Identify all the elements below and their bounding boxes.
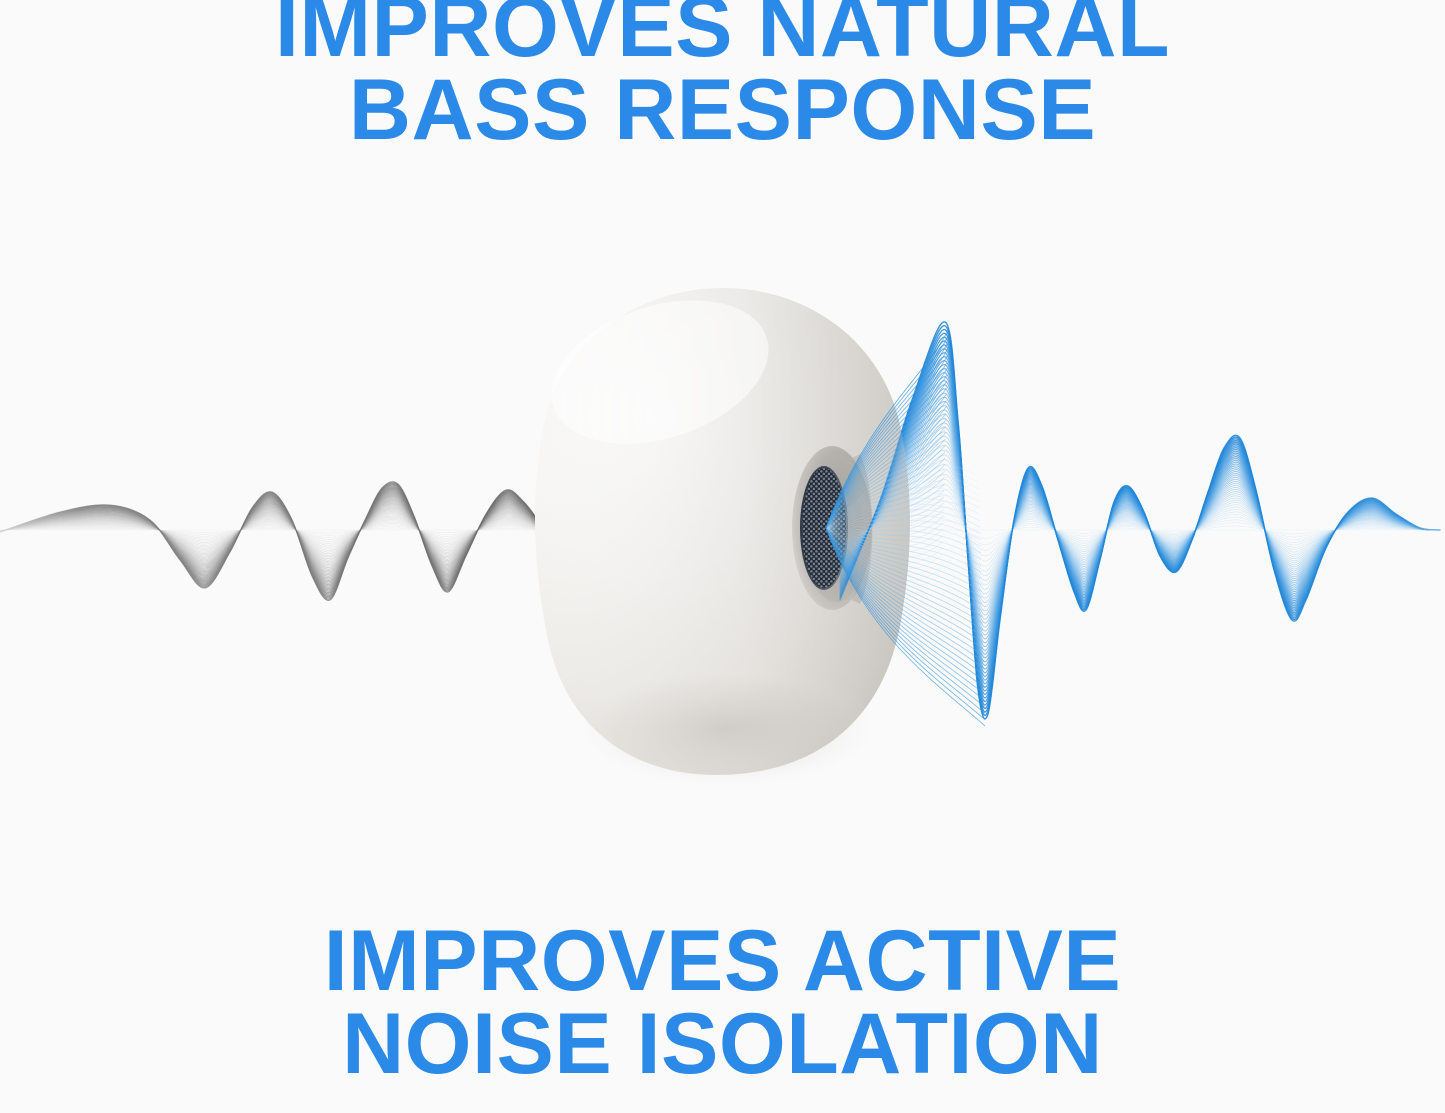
product-feature-image: IMPROVES NATURAL BASS RESPONSE IMPROVES … <box>0 0 1445 1113</box>
headline-bottom: IMPROVES ACTIVE NOISE ISOLATION <box>0 920 1445 1087</box>
eartip-bottom-shading <box>566 664 886 792</box>
headline-top-line-1: IMPROVES NATURAL <box>0 0 1445 69</box>
headline-bottom-line-2: NOISE ISOLATION <box>0 1003 1445 1086</box>
headline-top-line-2: BASS RESPONSE <box>0 69 1445 152</box>
headline-top: IMPROVES NATURAL BASS RESPONSE <box>0 0 1445 153</box>
headline-bottom-line-1: IMPROVES ACTIVE <box>0 920 1445 1003</box>
